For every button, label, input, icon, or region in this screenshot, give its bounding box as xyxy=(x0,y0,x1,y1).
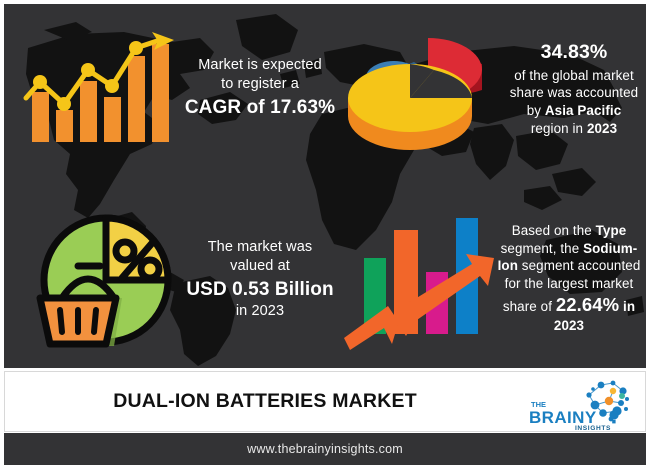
market-value-line-2: valued at xyxy=(230,258,290,274)
stat-market-value-text: The market was valued at USD 0.53 Billio… xyxy=(172,238,348,321)
cagr-line-2: to register a xyxy=(221,76,299,92)
cagr-line-1: Market is expected xyxy=(198,57,322,73)
page-title: DUAL-ION BATTERIES MARKET xyxy=(5,390,525,413)
title-bar: DUAL-ION BATTERIES MARKET xyxy=(4,371,646,432)
cagr-value: CAGR of 17.63% xyxy=(172,95,348,120)
pie-3d-chart-icon xyxy=(342,24,498,156)
bar-growth-arrow-icon xyxy=(340,214,500,354)
stat-region-share-text: 34.83% of the global market share was ac… xyxy=(496,40,646,137)
region-share-line-2: share was accounted xyxy=(510,85,638,100)
segment-line-4: for the largest market xyxy=(505,276,634,291)
segment-line-5-a: share of xyxy=(503,299,556,314)
region-share-line-3-prefix: by xyxy=(527,103,545,118)
hero-panel: Market is expected to register a CAGR of… xyxy=(4,4,646,368)
stat-cagr-text: Market is expected to register a CAGR of… xyxy=(172,56,348,120)
logo-sub-word: INSIGHTS xyxy=(575,425,611,431)
region-name: Asia Pacific xyxy=(545,103,621,118)
segment-line-1-a: Based on the xyxy=(512,223,596,238)
stat-segment-text: Based on the Type segment, the Sodium- I… xyxy=(486,222,646,335)
bar-line-chart-icon xyxy=(20,28,180,146)
region-share-value: 34.83% xyxy=(496,40,646,66)
segment-type-name: Type xyxy=(596,223,627,238)
segment-name-part-2: Ion xyxy=(498,258,518,273)
segment-year: 2023 xyxy=(554,318,584,333)
infographic-root: Market is expected to register a CAGR of… xyxy=(0,0,650,469)
region-share-line-1: of the global market xyxy=(514,68,634,83)
market-value-amount: USD 0.53 Billion xyxy=(172,277,348,302)
market-value-line-1: The market was xyxy=(208,239,313,255)
region-share-line-4-prefix: region in xyxy=(531,121,587,136)
brain-network-icon: THE BRAINY INSIGHTS xyxy=(523,375,635,431)
segment-share-value: 22.64% xyxy=(556,294,619,315)
footer-url-bar: www.thebrainyinsights.com xyxy=(4,433,646,465)
region-share-year: 2023 xyxy=(587,121,617,136)
segment-line-3-b: segment accounted xyxy=(518,258,640,273)
segment-name-part-1: Sodium- xyxy=(583,241,637,256)
percent-pie-basket-icon xyxy=(26,206,178,358)
segment-line-2-a: segment, the xyxy=(501,241,583,256)
brainy-insights-logo[interactable]: THE BRAINY INSIGHTS xyxy=(523,375,635,431)
market-value-year: in 2023 xyxy=(236,303,284,319)
segment-line-5-c: in xyxy=(619,299,635,314)
footer-url[interactable]: www.thebrainyinsights.com xyxy=(247,442,403,456)
